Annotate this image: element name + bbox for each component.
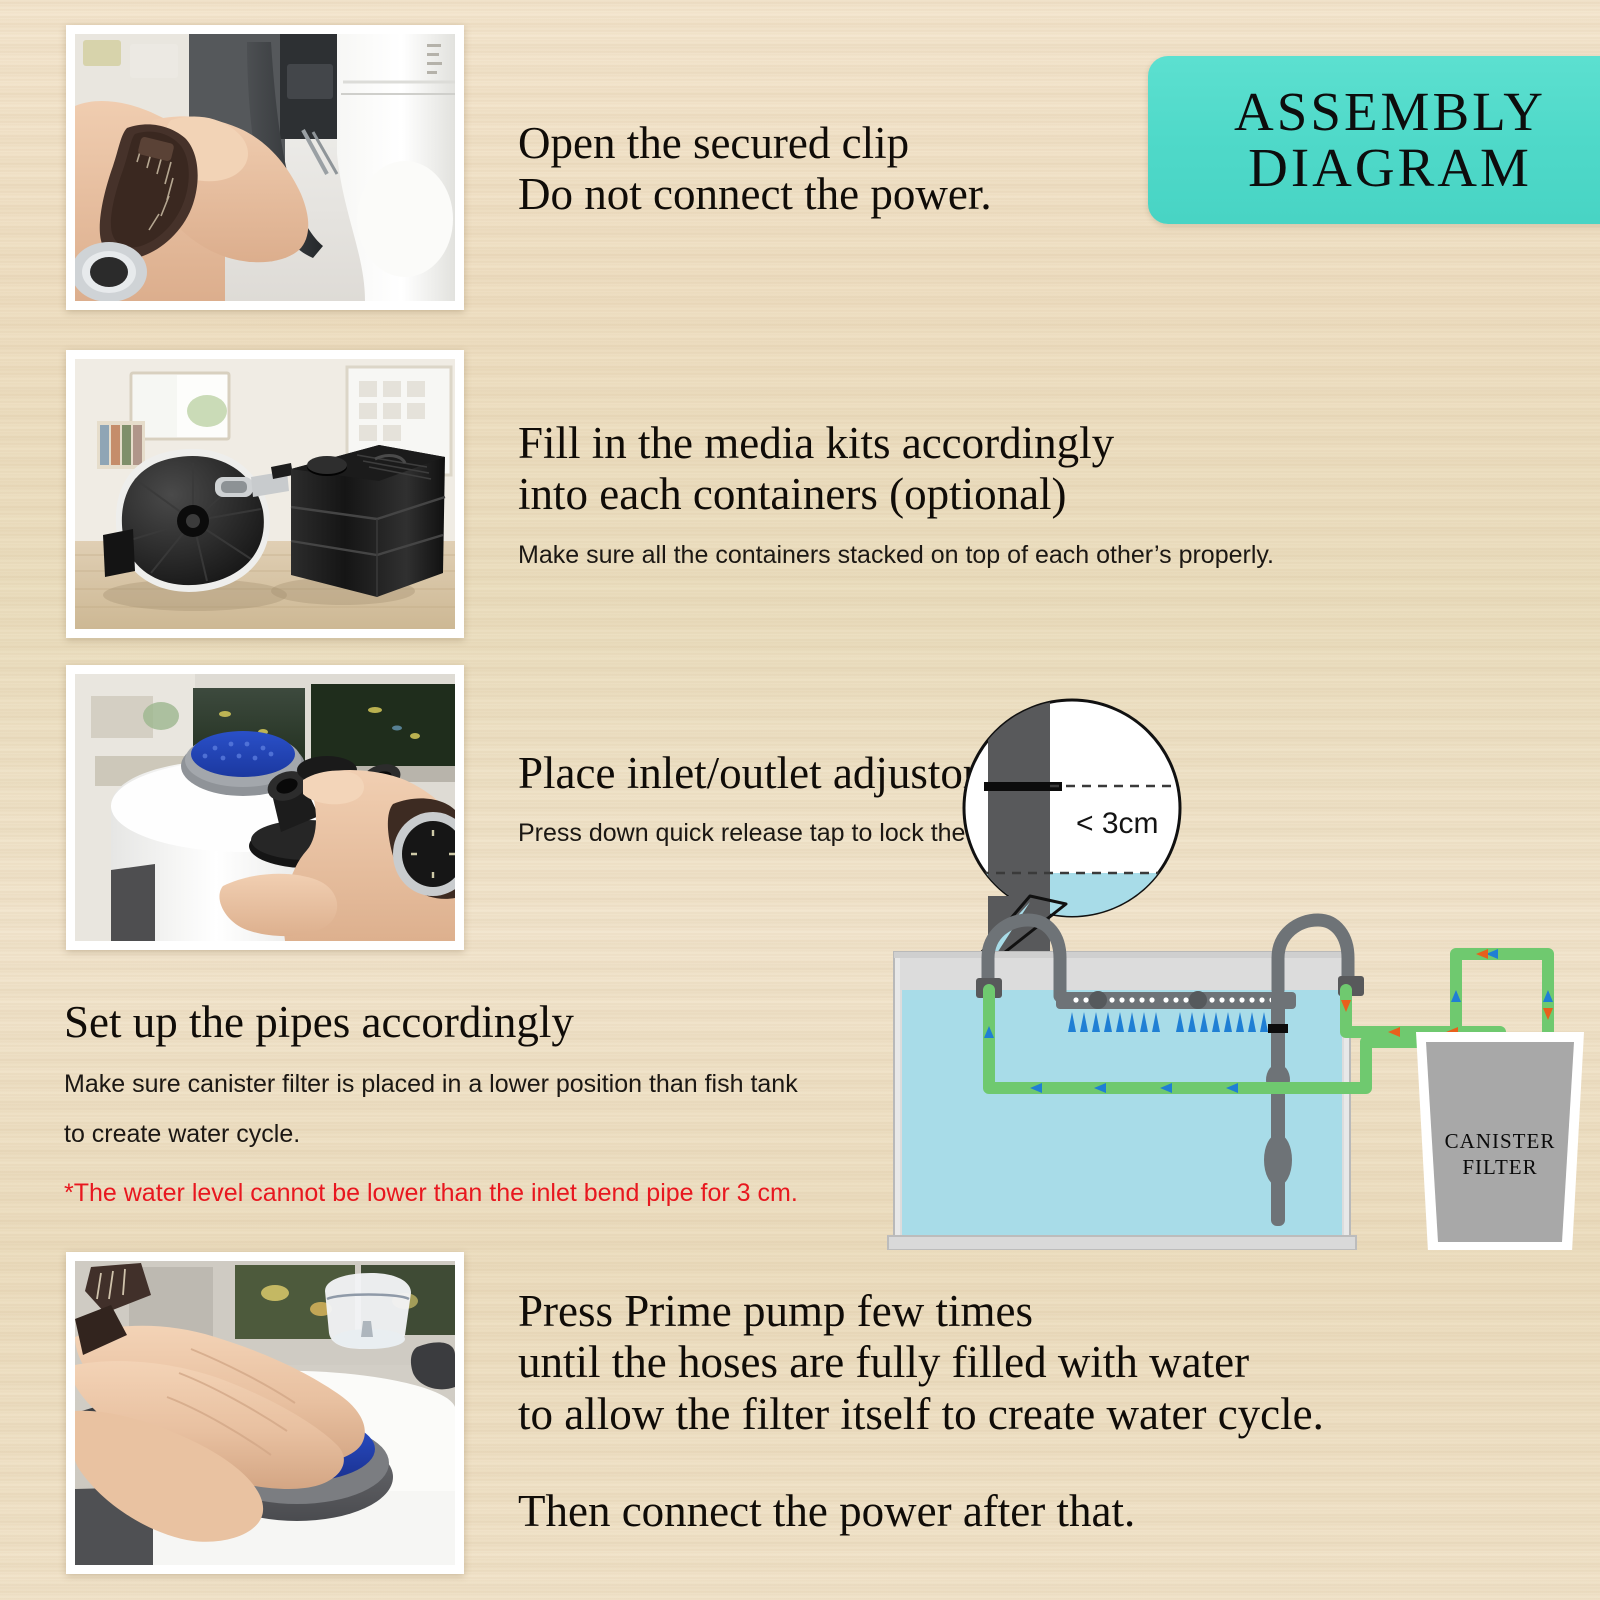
step-4-warning: *The water level cannot be lower than th… bbox=[64, 1175, 798, 1213]
step-4-heading-line-1: Set up the pipes accordingly bbox=[64, 997, 798, 1048]
step-5-heading-line-2: until the hoses are fully filled with wa… bbox=[518, 1337, 1324, 1388]
step-2-heading-line-2: into each containers (optional) bbox=[518, 469, 1274, 520]
step-2-text: Fill in the media kits accordingly into … bbox=[518, 418, 1274, 574]
pressing-prime-pump-photo bbox=[75, 1261, 455, 1565]
step-5-heading-line-1: Press Prime pump few times bbox=[518, 1286, 1324, 1337]
infographic-page: ASSEMBLY DIAGRAM bbox=[0, 0, 1600, 1600]
canister-filter-unit: CANISTER FILTER bbox=[1416, 1032, 1584, 1250]
inlet-outlet-adjustors-photo bbox=[75, 674, 455, 941]
callout-distance-label: < 3cm bbox=[1076, 807, 1159, 840]
title-badge: ASSEMBLY DIAGRAM bbox=[1148, 56, 1600, 224]
photo-card-step-5 bbox=[66, 1252, 464, 1574]
aquarium-setup-diagram: < 3cm bbox=[880, 690, 1600, 1250]
step-4-subtext-line-2: to create water cycle. bbox=[64, 1116, 798, 1154]
step-1-heading-line-1: Open the secured clip bbox=[518, 118, 992, 169]
photo-card-step-3 bbox=[66, 665, 464, 950]
step-5-text: Press Prime pump few times until the hos… bbox=[518, 1286, 1324, 1537]
step-1-text: Open the secured clip Do not connect the… bbox=[518, 118, 992, 221]
step-4-text: Set up the pipes accordingly Make sure c… bbox=[64, 997, 798, 1213]
hand-opening-clip-photo bbox=[75, 34, 455, 301]
step-5-heading-line-3: to allow the filter itself to create wat… bbox=[518, 1389, 1324, 1440]
step-4-subtext-line-1: Make sure canister filter is placed in a… bbox=[64, 1066, 798, 1104]
step-1-heading-line-2: Do not connect the power. bbox=[518, 169, 992, 220]
canister-filter-label-line-1: CANISTER bbox=[1445, 1129, 1556, 1153]
title-line-2: DIAGRAM bbox=[1248, 140, 1532, 196]
media-containers-photo bbox=[75, 359, 455, 629]
step-5-closing-line: Then connect the power after that. bbox=[518, 1486, 1324, 1537]
photo-card-step-2 bbox=[66, 350, 464, 638]
photo-card-step-1 bbox=[66, 25, 464, 310]
step-2-subtext: Make sure all the containers stacked on … bbox=[518, 537, 1274, 575]
step-2-heading-line-1: Fill in the media kits accordingly bbox=[518, 418, 1274, 469]
canister-filter-label-line-2: FILTER bbox=[1462, 1155, 1537, 1179]
title-line-1: ASSEMBLY bbox=[1234, 84, 1546, 140]
